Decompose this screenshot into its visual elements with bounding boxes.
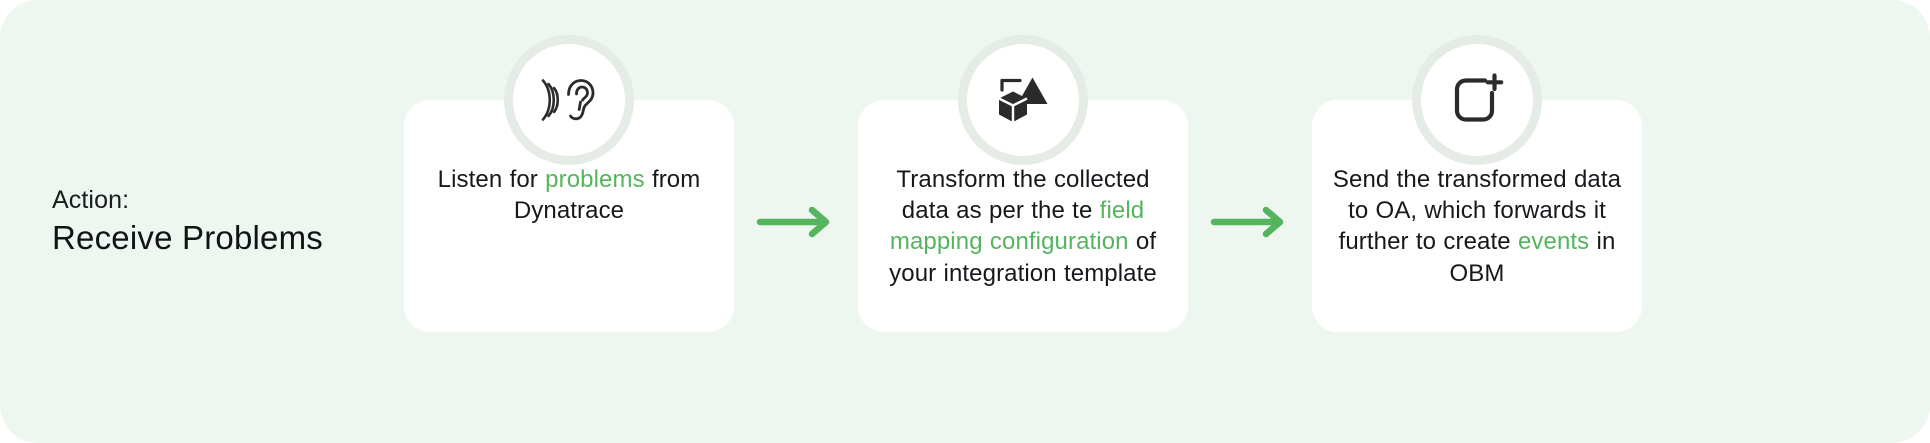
step-card-3[interactable]: Send the transformed data to OA, which f… [1312,44,1642,399]
step-card-1[interactable]: Listen for problems from Dynatrace [404,44,734,399]
arrow-right-2 [1188,44,1312,399]
step-text-1: Listen for problems from Dynatrace [422,164,716,226]
step-text-3-highlight: events [1518,228,1589,255]
step-card-2[interactable]: Transform the collected data as per the … [858,44,1188,399]
arrow-right-1 [734,44,858,399]
step-text-3: Send the transformed data to OA, which f… [1330,164,1624,289]
action-title: Receive Problems [52,218,372,258]
create-add-square-icon [1421,44,1533,156]
step-text-1-highlight: problems [545,166,645,193]
diagram-canvas: Action: Receive Problems [0,0,1930,443]
action-label-block: Action: Receive Problems [52,185,382,257]
step-text-1-part-0: Listen for [438,166,546,193]
step-text-2: Transform the collected data as per the … [876,164,1170,289]
action-kicker: Action: [52,185,372,216]
flow-row: Action: Receive Problems [0,0,1930,443]
listen-ear-icon [513,44,625,156]
transform-shapes-icon [967,44,1079,156]
